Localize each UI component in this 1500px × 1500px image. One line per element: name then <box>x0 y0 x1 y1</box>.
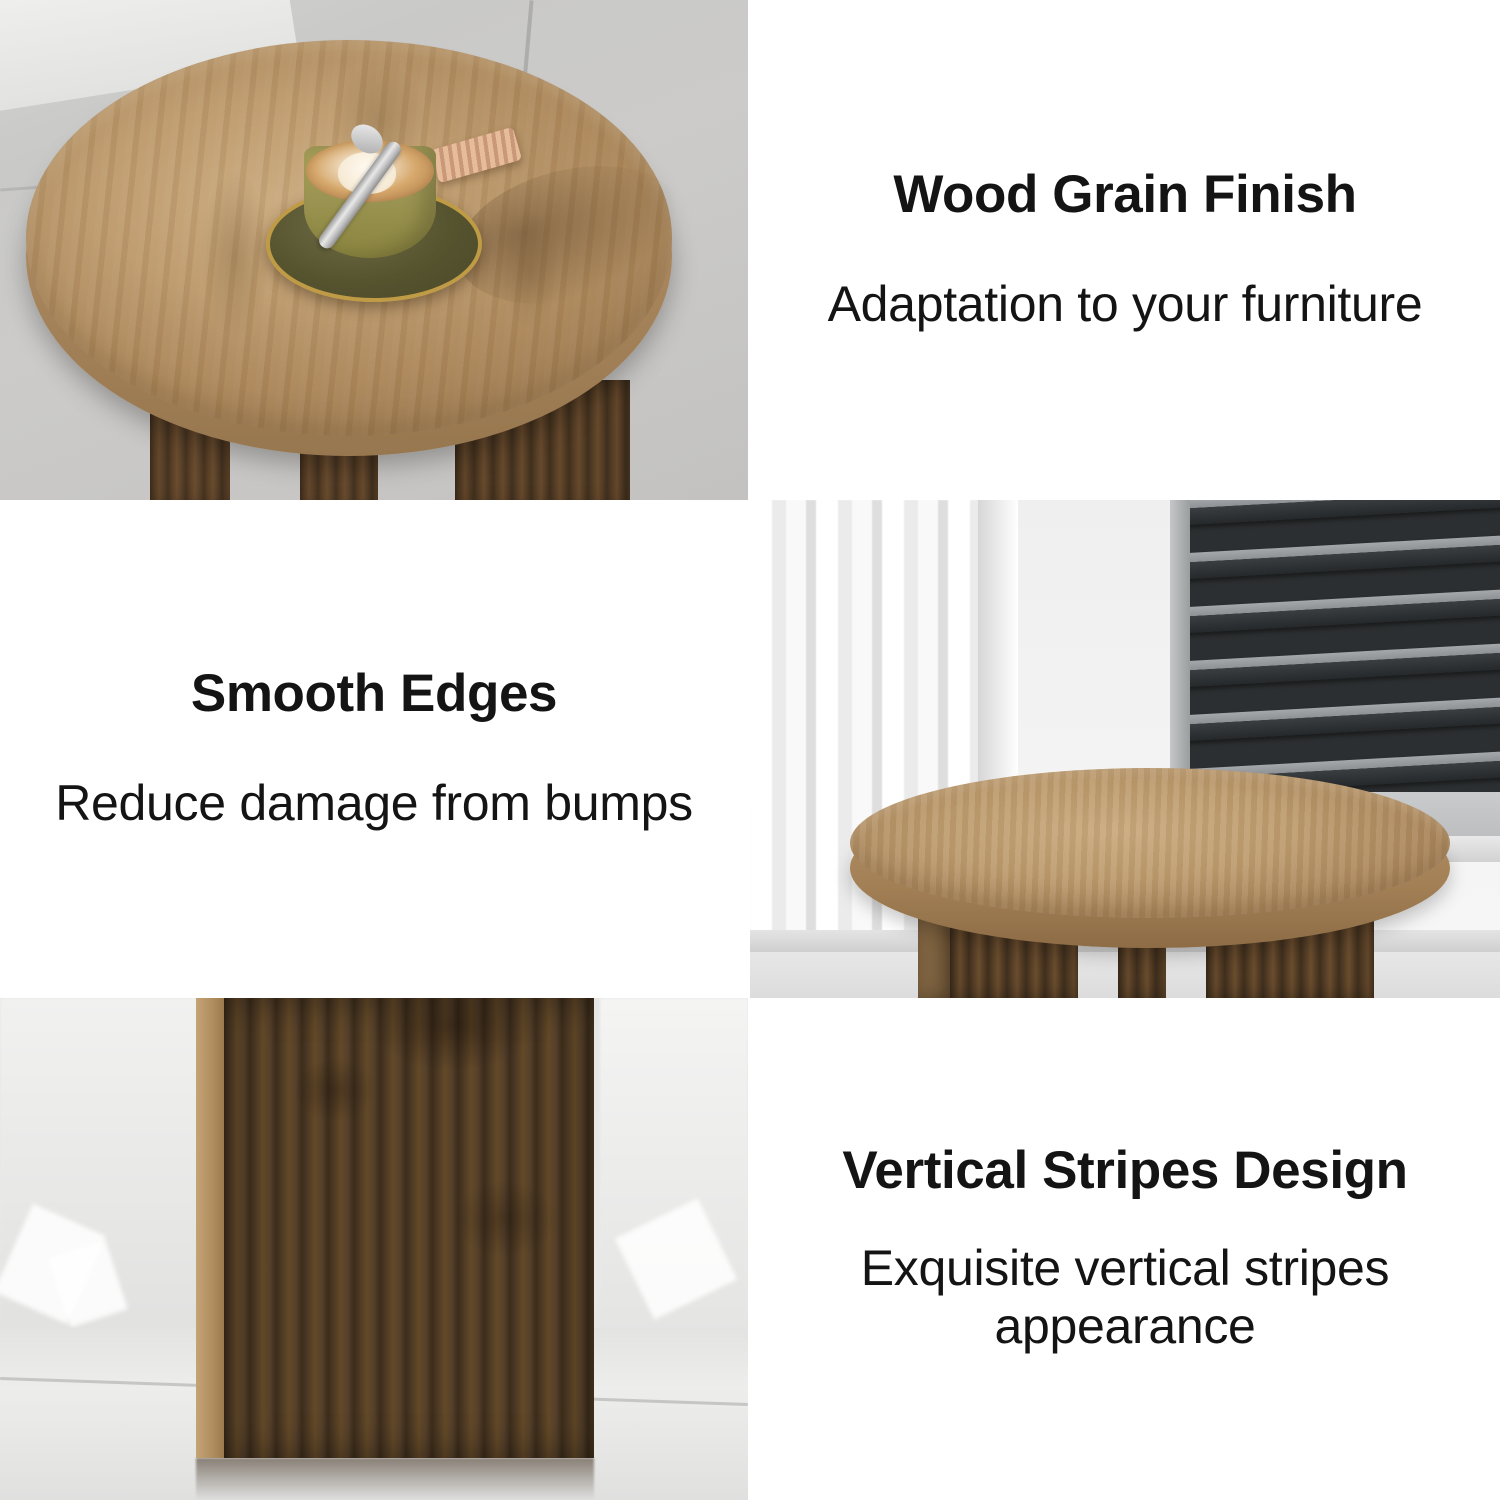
table-top-surface <box>850 768 1450 918</box>
feature-title-smooth-edges: Smooth Edges <box>191 666 557 722</box>
feature-block-smooth-edges: Smooth Edges Reduce damage from bumps <box>0 500 748 998</box>
photo-table-in-room <box>750 500 1500 998</box>
feature-block-wood-grain-finish: Wood Grain Finish Adaptation to your fur… <box>750 0 1500 500</box>
louver-frame <box>1170 500 1190 792</box>
leg-floor-reflection <box>196 1458 594 1500</box>
feature-subtitle-vertical-stripes-line2: appearance <box>994 1297 1255 1355</box>
feature-title-wood-grain-finish: Wood Grain Finish <box>893 167 1356 223</box>
table-leg-oak-edge <box>196 998 224 1458</box>
feature-subtitle-smooth-edges: Reduce damage from bumps <box>55 774 693 832</box>
feature-subtitle-wood-grain-finish: Adaptation to your furniture <box>828 275 1423 333</box>
feature-subtitle-vertical-stripes-line1: Exquisite vertical stripes <box>861 1239 1390 1297</box>
louver-slat <box>1170 532 1500 581</box>
photo-fluted-leg-closeup <box>0 998 748 1500</box>
louver-slat <box>1170 500 1500 528</box>
photo-table-top-with-coffee <box>0 0 748 500</box>
louvered-blinds <box>1170 500 1500 792</box>
table-leg-wood-grain <box>224 998 594 1458</box>
feature-block-vertical-stripes-design: Vertical Stripes Design Exquisite vertic… <box>750 998 1500 1500</box>
wood-grain-knot <box>200 170 270 340</box>
louver-slat <box>1170 640 1500 689</box>
louver-slat <box>1170 586 1500 635</box>
product-feature-infographic: Wood Grain Finish Adaptation to your fur… <box>0 0 1500 1500</box>
feature-title-vertical-stripes-design: Vertical Stripes Design <box>842 1143 1407 1199</box>
louver-slat <box>1170 694 1500 743</box>
